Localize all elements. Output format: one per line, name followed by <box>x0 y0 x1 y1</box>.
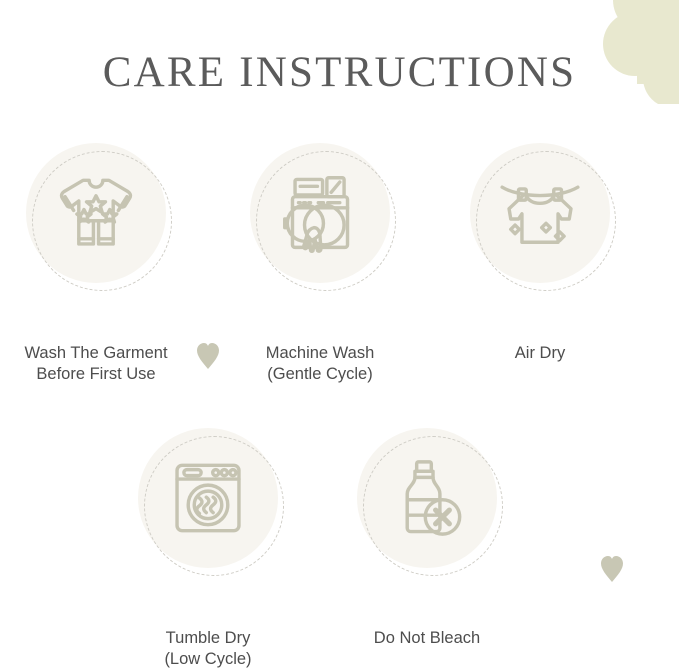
care-item-air-dry: Air Dry <box>470 143 610 283</box>
care-item-label: Do Not Bleach <box>297 628 557 649</box>
icon-disc <box>357 428 497 568</box>
care-item-do-not-bleach: Do Not Bleach <box>357 428 497 568</box>
washing-machine-icon <box>250 143 390 283</box>
care-item-tumble-dry: Tumble Dry (Low Cycle) <box>138 428 278 568</box>
icon-disc <box>470 143 610 283</box>
care-item-label: Air Dry <box>410 343 670 364</box>
care-item-wash-before-first-use: Wash The Garment Before First Use <box>26 143 166 283</box>
clothesline-tshirt-icon <box>470 143 610 283</box>
icon-disc <box>26 143 166 283</box>
icon-disc <box>138 428 278 568</box>
care-item-machine-wash: Machine Wash (Gentle Cycle) <box>250 143 390 283</box>
heart-accent-corner <box>600 554 624 584</box>
no-bleach-bottle-icon <box>357 428 497 568</box>
icon-disc <box>250 143 390 283</box>
dryer-heat-icon <box>138 428 278 568</box>
page-title: CARE INSTRUCTIONS <box>0 48 679 97</box>
pajama-outfit-icon <box>26 143 166 283</box>
